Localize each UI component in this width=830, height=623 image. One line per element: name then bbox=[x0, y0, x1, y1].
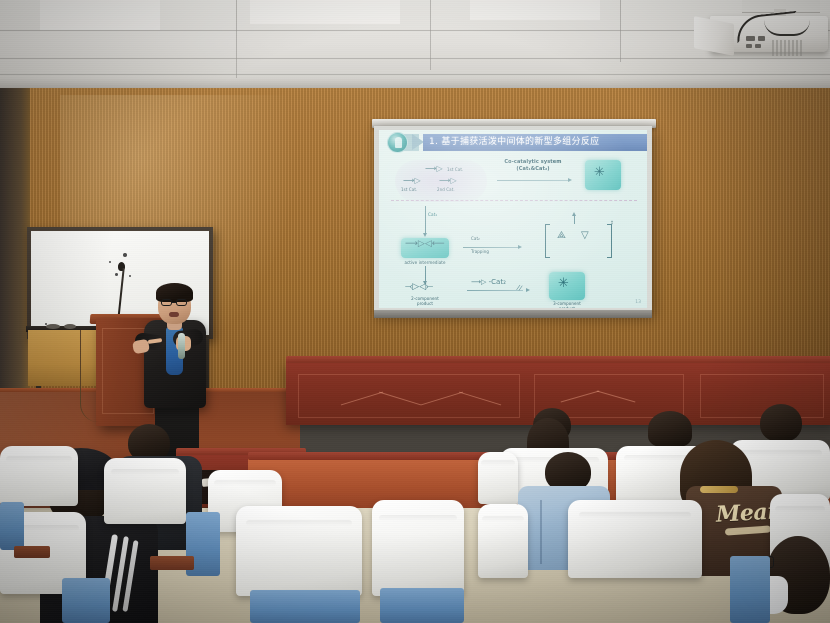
seat-left-2 bbox=[104, 458, 186, 524]
seat-back-row-0 bbox=[478, 452, 518, 504]
slide-label-cat2: 2nd Cat. bbox=[437, 187, 455, 192]
seat-mid-row-1 bbox=[568, 500, 702, 578]
attendee-denim-seam bbox=[540, 500, 542, 564]
slide-label-catalyst-system: Co-catalytic system bbox=[497, 159, 569, 165]
seat-armrest-left bbox=[14, 546, 50, 558]
seat-base-front-1 bbox=[250, 590, 360, 623]
handheld-microphone bbox=[178, 333, 185, 359]
seat-left-1 bbox=[0, 446, 78, 506]
slide-label-2component-sub: product bbox=[397, 301, 453, 306]
seat-base-left-1 bbox=[0, 502, 24, 550]
seat-base-right bbox=[730, 556, 770, 623]
slide-label-cat1-alt: 1st Cat. bbox=[447, 167, 463, 172]
ceiling-projector bbox=[690, 0, 830, 62]
screen-bottom-weight-bar bbox=[374, 310, 652, 318]
university-logo-badge bbox=[387, 132, 408, 153]
slide-page-number: 13 bbox=[635, 300, 641, 305]
seat-front-2 bbox=[372, 500, 464, 596]
slide-reaction-scheme: ⟶▷ 1st Cat. ⟶▷ 1st Cat. ⟶▷ 2nd Cat. Co-c… bbox=[379, 154, 647, 308]
desk-far-panel-3 bbox=[700, 374, 824, 418]
attendee-necklace bbox=[700, 486, 738, 493]
attendee-head-b bbox=[648, 411, 692, 447]
cabinet-equipment-1 bbox=[46, 324, 60, 329]
seat-armrest-left-2 bbox=[150, 556, 194, 570]
slide-label-active-intermediate: active intermediate bbox=[397, 260, 453, 265]
attendee-head-c bbox=[760, 404, 802, 442]
seat-front-1 bbox=[236, 506, 362, 596]
slide-title: 1. 基于捕获活泼中间体的新型多组分反应 bbox=[429, 135, 599, 150]
presenter-mouth bbox=[169, 312, 179, 317]
presenter-glasses-right-lens bbox=[176, 299, 187, 306]
presenter-glasses-bridge bbox=[172, 302, 176, 303]
seat-base-front-2 bbox=[380, 588, 464, 623]
lectern-cable bbox=[80, 330, 98, 422]
wall-left-corner bbox=[0, 88, 30, 418]
slide-label-cat1: 1st Cat. bbox=[401, 187, 417, 192]
slide-label-trapping: Trapping bbox=[471, 249, 489, 254]
slide-label-cat-vertical: Cat₁ bbox=[428, 212, 437, 217]
lecture-hall-screenshot: 1. 基于捕获活泼中间体的新型多组分反应 ⟶▷ 1st Cat. ⟶▷ 1st … bbox=[0, 0, 830, 623]
projector-lens-hood bbox=[694, 16, 734, 56]
slide-label-reagent-cat2: Cat₂ bbox=[471, 236, 480, 241]
presenter-glasses-left-lens bbox=[161, 299, 172, 306]
slide-label-3component-sub: product bbox=[545, 306, 589, 308]
seat-base-left-2 bbox=[62, 578, 110, 623]
desk-far-panel bbox=[298, 374, 520, 418]
slide-label-catalyst-formula: (Cat₁&Cat₂) bbox=[497, 166, 569, 172]
presentation-slide: 1. 基于捕获活泼中间体的新型多组分反应 ⟶▷ 1st Cat. ⟶▷ 1st … bbox=[379, 130, 647, 308]
seat-mid-row-0 bbox=[478, 504, 528, 578]
cabinet-equipment-2 bbox=[64, 324, 76, 329]
